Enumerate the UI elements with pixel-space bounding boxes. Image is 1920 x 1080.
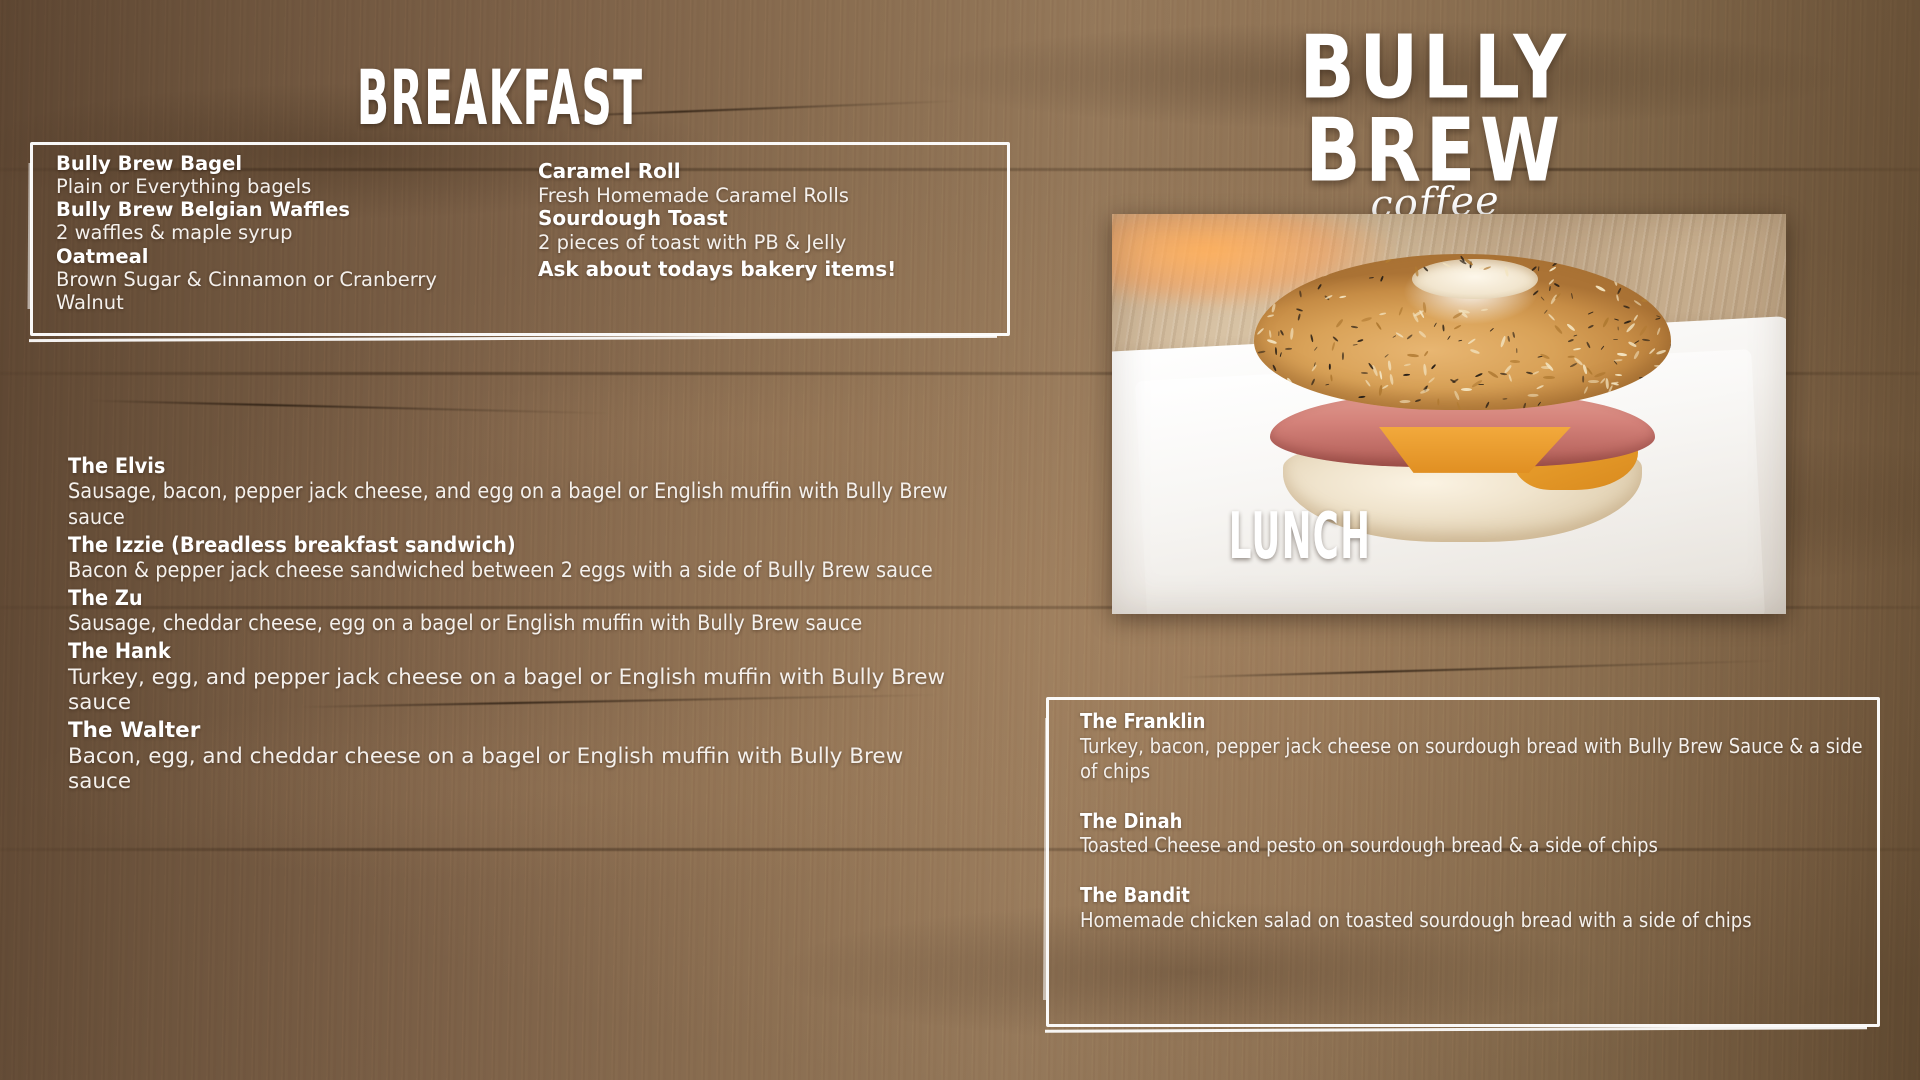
brand-name: BULLY BREW bbox=[1203, 27, 1668, 193]
menu-entry: The Zu Sausage, cheddar cheese, egg on a… bbox=[68, 586, 968, 637]
menu-item-name: The Dinah bbox=[1080, 810, 1870, 834]
menu-item-name: The Bandit bbox=[1080, 884, 1870, 908]
menu-entry: The Franklin Turkey, bacon, pepper jack … bbox=[1080, 710, 1870, 784]
menu-item-desc: Homemade chicken salad on toasted sourdo… bbox=[1080, 908, 1870, 933]
menu-item-desc: Brown Sugar & Cinnamon or Cranberry Waln… bbox=[56, 268, 456, 315]
menu-entry: The Bandit Homemade chicken salad on toa… bbox=[1080, 884, 1870, 933]
menu-entry: The Izzie (Breadless breakfast sandwich)… bbox=[68, 533, 968, 584]
menu-item-name: The Walter bbox=[68, 718, 968, 743]
bagel-sandwich bbox=[1254, 254, 1672, 542]
menu-item-name: The Zu bbox=[68, 586, 968, 611]
menu-item-desc: Plain or Everything bagels bbox=[56, 175, 456, 198]
lunch-item-list: The Franklin Turkey, bacon, pepper jack … bbox=[1080, 710, 1870, 959]
menu-board: BULLY BREW coffee BREAKFAST Bully Brew B… bbox=[0, 0, 1920, 1080]
menu-item-desc: 2 pieces of toast with PB & Jelly bbox=[538, 231, 978, 254]
menu-item-name: Bully Brew Belgian Waffles bbox=[56, 198, 456, 221]
menu-item-desc: Fresh Homemade Caramel Rolls bbox=[538, 184, 978, 207]
menu-item-name: Sourdough Toast bbox=[538, 207, 978, 231]
bagel-top-half bbox=[1254, 254, 1672, 410]
brand-logo: BULLY BREW coffee bbox=[1185, 36, 1685, 226]
menu-item-name: Bully Brew Bagel bbox=[56, 152, 456, 175]
menu-item-name: The Hank bbox=[68, 639, 968, 664]
everything-seasoning-seeds bbox=[1254, 254, 1672, 410]
menu-item-name: Oatmeal bbox=[56, 245, 456, 268]
menu-item-name: The Franklin bbox=[1080, 710, 1870, 734]
lunch-section-title: LUNCH bbox=[1126, 505, 1473, 569]
menu-entry: The Walter Bacon, egg, and cheddar chees… bbox=[68, 718, 968, 795]
menu-item-desc: Bacon, egg, and cheddar cheese on a bage… bbox=[68, 744, 968, 796]
breakfast-sandwich-list: The Elvis Sausage, bacon, pepper jack ch… bbox=[68, 452, 968, 795]
menu-item-name: The Elvis bbox=[68, 454, 968, 479]
menu-item-desc: 2 waffles & maple syrup bbox=[56, 221, 456, 244]
breakfast-box-right-column: Caramel Roll Fresh Homemade Caramel Roll… bbox=[538, 160, 978, 282]
menu-item-desc: Toasted Cheese and pesto on sourdough br… bbox=[1080, 833, 1870, 858]
menu-item-desc: Sausage, bacon, pepper jack cheese, and … bbox=[68, 479, 968, 531]
menu-entry: The Elvis Sausage, bacon, pepper jack ch… bbox=[68, 454, 968, 531]
menu-item-name: The Izzie (Breadless breakfast sandwich) bbox=[68, 533, 968, 558]
menu-entry: The Hank Turkey, egg, and pepper jack ch… bbox=[68, 639, 968, 716]
menu-item-desc: Sausage, cheddar cheese, egg on a bagel … bbox=[68, 611, 968, 637]
menu-item-desc: Turkey, egg, and pepper jack cheese on a… bbox=[68, 665, 968, 717]
breakfast-box-left-column: Bully Brew Bagel Plain or Everything bag… bbox=[56, 152, 456, 315]
menu-item-desc: Turkey, bacon, pepper jack cheese on sou… bbox=[1080, 734, 1870, 784]
menu-item-name: Caramel Roll bbox=[538, 160, 978, 184]
bakery-items-callout: Ask about todays bakery items! bbox=[538, 258, 978, 282]
breakfast-section-title: BREAKFAST bbox=[308, 60, 692, 136]
menu-entry: The Dinah Toasted Cheese and pesto on so… bbox=[1080, 810, 1870, 859]
menu-item-desc: Bacon & pepper jack cheese sandwiched be… bbox=[68, 558, 968, 584]
